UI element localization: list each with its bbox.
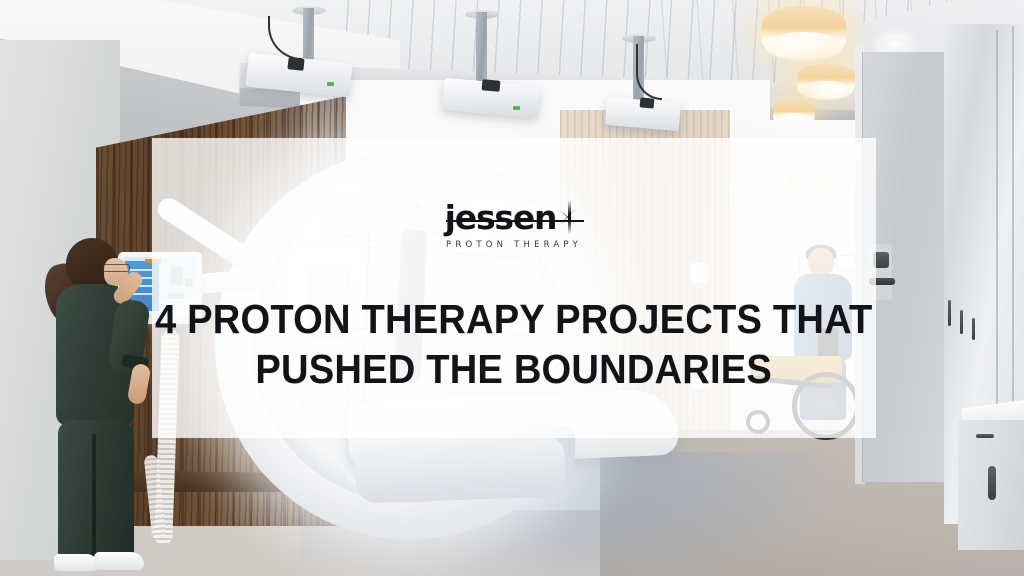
cabinet-seam-2 xyxy=(1012,26,1014,436)
logo-wordmark: jessen xyxy=(445,201,557,234)
equipment-led-2 xyxy=(513,106,520,110)
cabinet-handle-5 xyxy=(988,466,996,500)
headline-line-2: PUSHED THE BOUNDARIES xyxy=(155,344,872,394)
equipment-connector-3 xyxy=(640,97,655,108)
sparkle-star-icon xyxy=(555,200,583,234)
technician-glasses xyxy=(102,264,130,272)
recessed-light-1 xyxy=(880,38,910,51)
boom-pole-2 xyxy=(476,12,487,86)
technician-shoe-right xyxy=(94,552,144,570)
drum-light-2 xyxy=(797,64,855,98)
couch-base xyxy=(354,436,566,503)
cabinet-handle-1 xyxy=(948,300,951,326)
headline-line-1: 4 PROTON THERAPY PROJECTS THAT xyxy=(155,296,872,342)
technician-figure xyxy=(38,238,158,576)
technician-scrub-pants xyxy=(58,420,134,558)
banner-stage: jessen PROTON THERAPY 4 PROTON THERAPY P… xyxy=(0,0,1024,576)
technician-shoe-left xyxy=(54,554,98,571)
headline: 4 PROTON THERAPY PROJECTS THAT PUSHED TH… xyxy=(155,294,872,394)
brand-logo[interactable]: jessen PROTON THERAPY xyxy=(445,200,584,250)
cabinet-seam-1 xyxy=(996,30,998,430)
cabinet-handle-3 xyxy=(972,318,975,340)
overlay-content: jessen PROTON THERAPY 4 PROTON THERAPY P… xyxy=(152,138,876,438)
logo-wordmark-row: jessen xyxy=(445,200,584,234)
cabinet-handle-2 xyxy=(960,310,963,334)
logo-tagline: PROTON THERAPY xyxy=(446,241,582,250)
boom-pole-1 xyxy=(303,8,314,64)
drum-light-1 xyxy=(762,6,846,58)
cabinet-handle-4 xyxy=(976,434,994,438)
technician-leg-seam xyxy=(92,434,96,556)
equipment-connector-2 xyxy=(482,79,501,92)
equipment-led-1 xyxy=(327,82,334,86)
